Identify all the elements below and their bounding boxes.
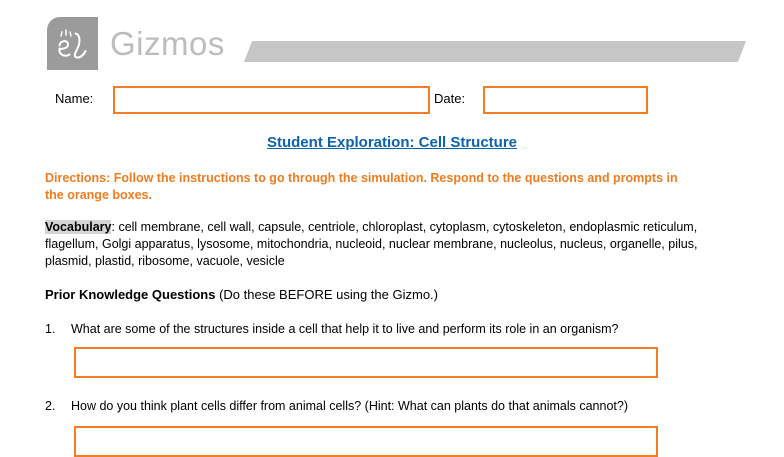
vocabulary-heading: Vocabulary <box>45 220 111 234</box>
gizmos-logo-tile <box>47 17 98 70</box>
date-input[interactable] <box>483 86 648 114</box>
name-input[interactable] <box>113 86 430 114</box>
answer-input-question-2[interactable] <box>74 426 658 457</box>
vocabulary-block: Vocabulary: cell membrane, cell wall, ca… <box>45 219 745 270</box>
header-accent-bar <box>244 41 746 62</box>
question-item: 1. What are some of the structures insid… <box>45 321 745 338</box>
date-label: Date: <box>434 84 465 114</box>
question-text: How do you think plant cells differ from… <box>71 398 628 415</box>
answer-input-question-1[interactable] <box>74 347 658 378</box>
question-number: 2. <box>45 398 69 415</box>
directions-text: Directions: Follow the instructions to g… <box>45 170 690 204</box>
brand-header: Gizmos <box>0 0 784 80</box>
name-label: Name: <box>55 84 93 114</box>
prior-knowledge-heading: Prior Knowledge Questions (Do these BEFO… <box>45 286 438 304</box>
prior-knowledge-heading-note: (Do these BEFORE using the Gizmo.) <box>215 287 438 302</box>
question-item: 2. How do you think plant cells differ f… <box>45 398 745 415</box>
vocabulary-colon: : <box>111 220 114 234</box>
gizmos-wordmark: Gizmos <box>110 24 225 64</box>
page-title: Student Exploration: Cell Structure <box>0 133 784 153</box>
vocabulary-terms: cell membrane, cell wall, capsule, centr… <box>45 220 697 268</box>
identity-row: Name: Date: <box>0 84 784 116</box>
prior-knowledge-heading-bold: Prior Knowledge Questions <box>45 287 215 302</box>
question-text: What are some of the structures inside a… <box>71 321 619 338</box>
question-number: 1. <box>45 321 69 338</box>
gizmos-el-monogram-icon <box>47 17 98 70</box>
